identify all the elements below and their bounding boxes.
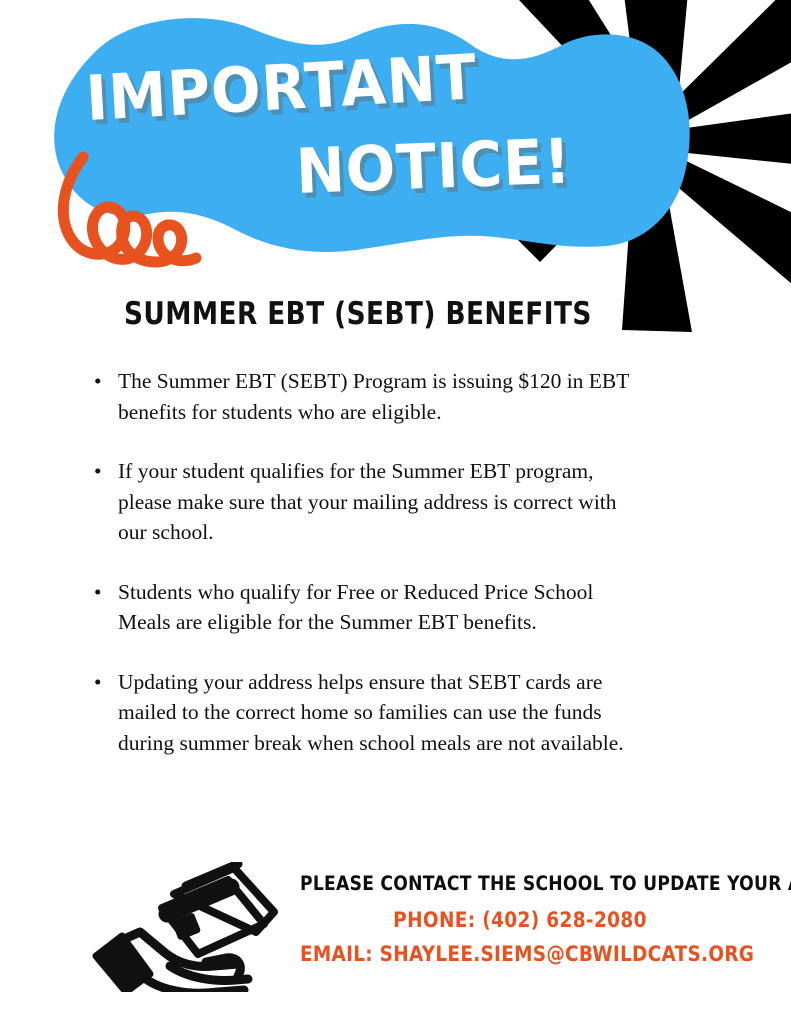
list-item: • Students who qualify for Free or Reduc…: [90, 577, 630, 638]
bullet-marker: •: [94, 577, 102, 608]
contact-email[interactable]: EMAIL: SHAYLEE.SIEMS@CBWILDCATS.ORG: [300, 942, 740, 966]
list-item: • The Summer EBT (SEBT) Program is issui…: [90, 366, 630, 427]
list-item-text: Students who qualify for Free or Reduced…: [118, 580, 593, 635]
bullet-marker: •: [94, 366, 102, 397]
list-item-text: The Summer EBT (SEBT) Program is issuing…: [118, 369, 629, 424]
footer-contact-section: PLEASE CONTACT THE SCHOOL TO UPDATE YOUR…: [0, 858, 791, 998]
contact-details: PLEASE CONTACT THE SCHOOL TO UPDATE YOUR…: [270, 872, 770, 966]
list-item: • Updating your address helps ensure tha…: [90, 667, 630, 759]
bullet-marker: •: [94, 456, 102, 487]
benefit-bullet-list: • The Summer EBT (SEBT) Program is issui…: [90, 366, 630, 758]
blue-blob-shape: [54, 18, 689, 252]
bullet-marker: •: [94, 667, 102, 698]
section-title: SUMMER EBT (SEBT) BENEFITS: [124, 296, 592, 332]
hand-holding-credit-cards-icon: [78, 862, 293, 992]
contact-phone[interactable]: PHONE: (402) 628-2080: [300, 908, 740, 932]
list-item: • If your student qualifies for the Summ…: [90, 456, 630, 548]
hero-banner: IMPORTANT NOTICE!: [0, 0, 791, 340]
list-item-text: If your student qualifies for the Summer…: [118, 459, 617, 544]
hero-graphics: [0, 0, 791, 340]
contact-heading: PLEASE CONTACT THE SCHOOL TO UPDATE YOUR…: [300, 872, 740, 895]
list-item-text: Updating your address helps ensure that …: [118, 670, 624, 755]
